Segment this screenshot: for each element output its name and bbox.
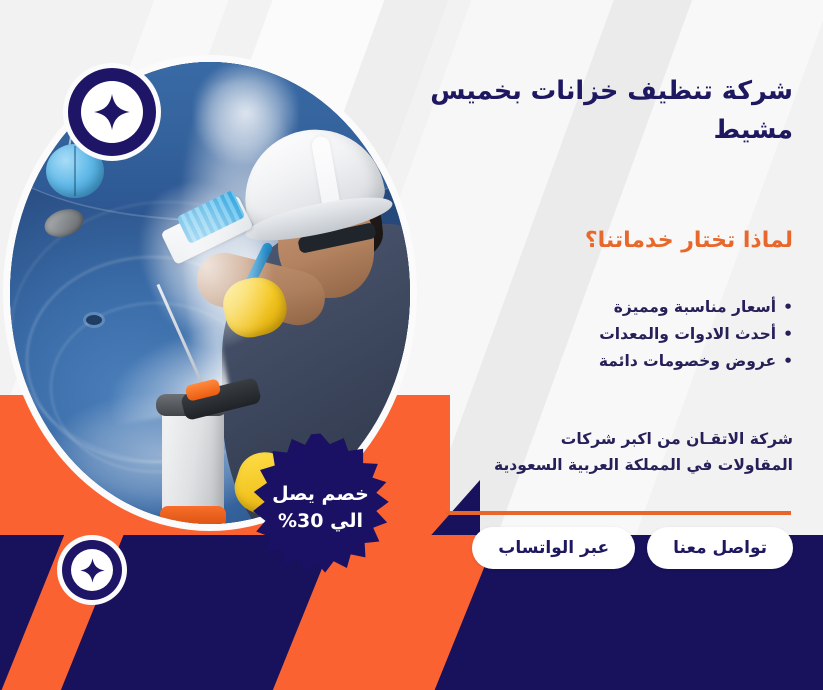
discount-line-1: خصم يصل: [266, 481, 376, 508]
list-item: أسعار مناسبة ومميزة: [393, 294, 793, 321]
spray-bottle-base: [160, 506, 226, 524]
company-description: شركة الاتقـان من اكبر شركات المقاولات في…: [493, 426, 793, 479]
brand-logo: [68, 68, 156, 156]
contact-us-button[interactable]: تواصل معنا: [647, 527, 793, 569]
benefits-list: أسعار مناسبة ومميزة أحدث الادوات والمعدا…: [393, 294, 793, 375]
logo-inner-circle: [81, 81, 143, 143]
subtitle: لماذا تختار خدماتنا؟: [393, 228, 793, 253]
list-item: أحدث الادوات والمعدات: [393, 321, 793, 348]
orange-divider: [446, 511, 791, 515]
logo-inner-circle: [71, 549, 113, 591]
four-point-star-icon: [79, 557, 106, 584]
discount-badge: خصم يصل الي 30%: [243, 432, 398, 584]
discount-text: خصم يصل الي 30%: [266, 481, 376, 534]
promo-banner: شركة تنظيف خزانات بخميس مشيط لماذا تختار…: [0, 0, 823, 690]
discount-line-2: الي 30%: [266, 508, 376, 535]
whatsapp-button[interactable]: عبر الواتساب: [472, 527, 635, 569]
headline-block: شركة تنظيف خزانات بخميس مشيط: [393, 72, 793, 150]
brand-logo-secondary: [62, 540, 122, 600]
list-item: عروض وخصومات دائمة: [393, 348, 793, 375]
four-point-star-icon: [92, 92, 132, 132]
cta-row: تواصل معنا عبر الواتساب: [403, 527, 793, 569]
tank-drain: [86, 315, 102, 325]
page-title: شركة تنظيف خزانات بخميس مشيط: [393, 72, 793, 150]
